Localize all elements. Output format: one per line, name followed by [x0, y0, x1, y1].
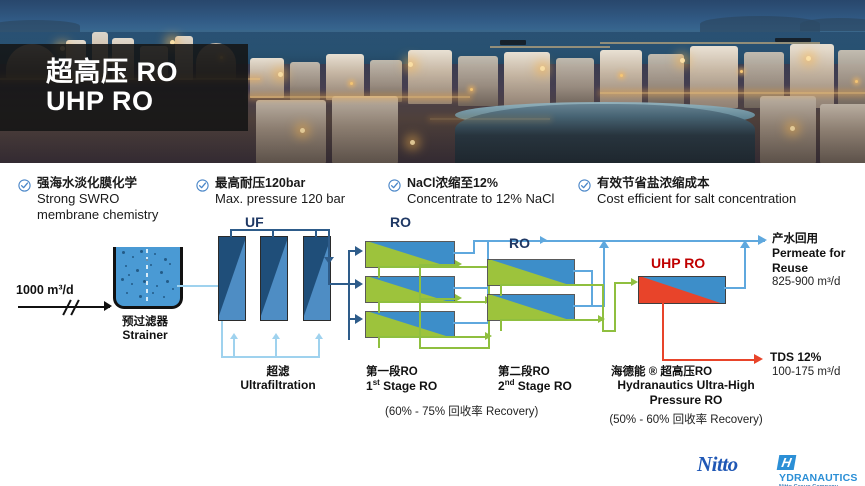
uf-label-en: Ultrafiltration	[228, 378, 328, 392]
page-title-cn: 超高压 RO	[46, 50, 178, 89]
ro2-section-header: RO	[509, 235, 530, 251]
ro2-feed-arrow	[455, 294, 462, 302]
uf-feed-arrow	[272, 333, 280, 339]
ro1-to-ro2-pipe	[419, 347, 490, 349]
uf-feed-arrow	[315, 333, 323, 339]
ro1-feed-riser	[348, 250, 350, 340]
strainer-label-cn: 预过滤器	[105, 313, 185, 329]
permeate-out-arrow	[758, 235, 767, 245]
ro2-stage-suffix: nd	[505, 378, 515, 387]
permeate-output-flow: 825-900 m³/d	[772, 276, 840, 288]
feed-pipe	[18, 306, 110, 308]
ro1-label-cn: 第一段RO	[366, 363, 418, 379]
ro2-stage-number: 2	[498, 379, 505, 393]
uhp-recovery-label: (50% - 60% 回收率 Recovery)	[596, 411, 776, 427]
uf-permeate-header	[230, 229, 330, 231]
uf-feed-header	[221, 356, 320, 358]
ro1-label-en: 1st Stage RO	[366, 378, 437, 393]
uf-module	[303, 236, 331, 321]
uhp-label-en-line1: Hydranautics Ultra-High	[596, 378, 776, 392]
uhp-feed-pipe	[602, 330, 616, 332]
uf-feed-riser	[318, 339, 320, 357]
ro1-permeate-pipe	[453, 322, 489, 324]
feed-flow-label: 1000 m³/d	[16, 283, 74, 297]
ro1-feed-arrow	[355, 246, 363, 256]
ro2-label-en: 2nd Stage RO	[498, 378, 572, 393]
strainer-to-uf-pipe	[177, 285, 223, 287]
ro1-stage-rest: Stage RO	[380, 379, 437, 393]
ro1-concentrate-pipe	[378, 336, 490, 338]
process-flow-diagram: 1000 m³/d	[0, 163, 865, 443]
uhp-label-cn: 海德能 ® 超高压RO	[611, 363, 712, 379]
uhp-label-en-line2: Pressure RO	[596, 393, 776, 407]
ro2-stage-rest: Stage RO	[514, 379, 571, 393]
ro2-feed-arrow	[455, 260, 462, 268]
slide-root: 超高压 RO UHP RO 强海水淡化膜化学 Strong SWRO membr…	[0, 0, 865, 486]
uf-module	[260, 236, 288, 321]
hydranautics-logo-text: YDRANAUTICS	[779, 473, 858, 484]
ro1-stage-number: 1	[366, 379, 373, 393]
ro2-module	[487, 259, 575, 286]
ro2-concentrate-pipe	[500, 319, 604, 321]
hydranautics-h-mark: H	[777, 455, 797, 470]
ro2-module	[487, 294, 575, 321]
strainer-dashed-divider	[146, 249, 148, 302]
strainer-label-en: Strainer	[105, 328, 185, 342]
ro2-permeate-pipe	[573, 305, 605, 307]
ro1-stage-suffix: st	[373, 378, 380, 387]
ro1-recovery-label: (60% - 75% 回收率 Recovery)	[385, 403, 538, 419]
ro1-concentrate-arrow	[485, 332, 492, 340]
permeate-header-arrow	[540, 236, 547, 244]
title-block: 超高压 RO UHP RO	[0, 44, 248, 131]
permeate-output-en1: Permeate for	[772, 246, 845, 260]
uhp-brine-arrow	[754, 354, 763, 364]
uf-label-cn: 超滤	[228, 363, 328, 379]
page-title-en: UHP RO	[46, 86, 154, 117]
ro2-permeate-pipe	[573, 270, 593, 272]
feed-arrowhead	[104, 301, 112, 311]
uf-feed-riser	[233, 339, 235, 357]
uhp-permeate-riser	[744, 247, 746, 289]
ro1-module	[365, 311, 455, 338]
ro2-permeate-riser	[591, 270, 593, 307]
ro1-section-header: RO	[390, 214, 411, 230]
nitto-logo-text: Nitto	[697, 452, 738, 476]
ro1-concentrate-pipe	[378, 301, 490, 303]
uf-feed-arrow	[230, 333, 238, 339]
uhp-section-header: UHP RO	[651, 255, 705, 271]
uhp-permeate-pipe	[724, 287, 746, 289]
ro2-label-cn: 第二段RO	[498, 363, 550, 379]
uf-to-ro1-pipe	[328, 283, 350, 285]
uhp-feed-arrow	[631, 278, 638, 286]
ro2-permeate-arrow	[599, 240, 609, 248]
ro1-permeate-pipe	[453, 287, 489, 289]
ro2-feed-branch	[419, 298, 457, 300]
uf-module	[218, 236, 246, 321]
uhp-brine-pipe	[662, 359, 758, 361]
ro2-concentrate-arrow	[598, 315, 605, 323]
strainer-vessel	[113, 247, 183, 309]
hydranautics-logo: H YDRANAUTICS Nitto Group Company	[778, 455, 865, 486]
uf-feed-riser	[275, 339, 277, 357]
uhp-feed-riser	[614, 282, 616, 332]
ro2-concentrate-collector	[602, 284, 604, 332]
ro1-concentrate-pipe	[378, 266, 490, 268]
uhp-brine-drop	[662, 302, 664, 361]
ro1-permeate-riser	[473, 240, 475, 254]
permeate-output-en2: Reuse	[772, 261, 808, 275]
nitto-logo: Nitto	[697, 452, 738, 477]
permeate-output-cn: 产水回用	[772, 230, 818, 246]
ro1-feed-arrow	[355, 314, 363, 324]
header-banner-image: 超高压 RO UHP RO	[0, 0, 865, 163]
uf-section-header: UF	[245, 214, 264, 230]
ro2-feed-riser	[419, 264, 421, 349]
brine-output-title: TDS 12%	[770, 350, 821, 364]
ro1-feed-arrow	[355, 279, 363, 289]
ro1-permeate-pipe	[453, 252, 475, 254]
uhp-ro-module	[638, 276, 726, 304]
uf-permeate-arrow	[324, 257, 334, 264]
ro2-feed-branch	[419, 264, 457, 266]
brine-output-flow: 100-175 m³/d	[772, 366, 840, 378]
uhp-permeate-arrow	[740, 240, 750, 248]
ro2-concentrate-pipe	[500, 284, 604, 286]
